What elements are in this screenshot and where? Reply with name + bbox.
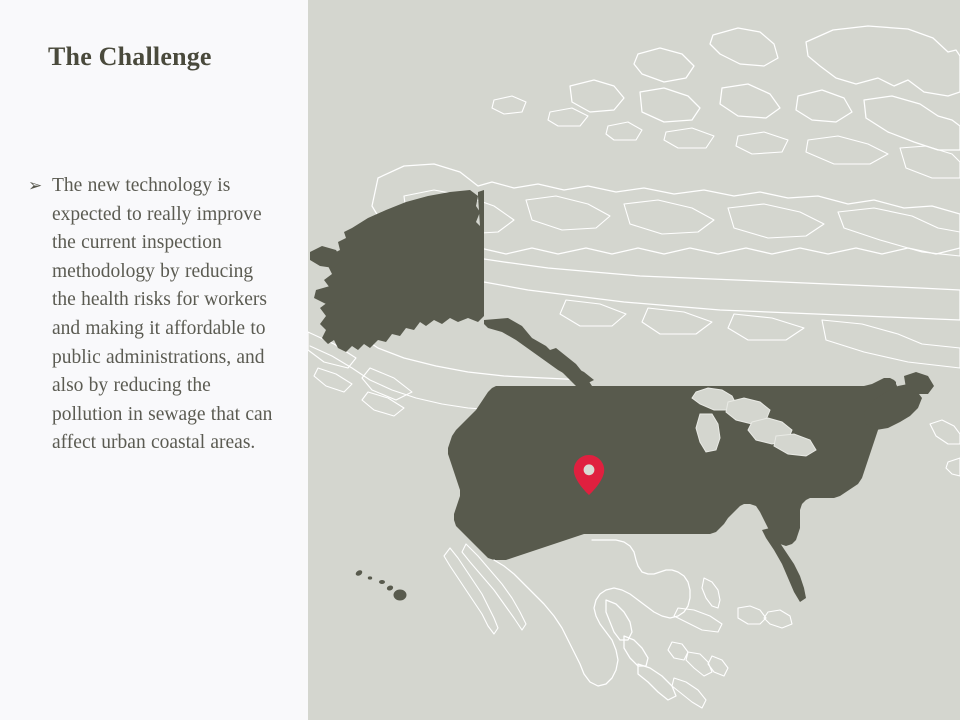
text-panel: The Challenge ➢ The new technology is ex… (0, 0, 308, 720)
arrow-bullet-icon: ➢ (28, 172, 52, 201)
hawaii-region (355, 569, 407, 600)
caribbean-outlines (668, 578, 792, 676)
usa-region (448, 372, 934, 602)
mexico-outlines (444, 540, 706, 708)
map-panel (308, 0, 960, 720)
arctic-outlines (492, 26, 960, 178)
slide-root: The Challenge ➢ The new technology is ex… (0, 0, 960, 720)
bullet-item-text: The new technology is expected to really… (52, 172, 280, 458)
page-title: The Challenge (48, 42, 212, 72)
bullet-list: ➢ The new technology is expected to real… (28, 172, 280, 458)
atlantic-outlines (930, 420, 960, 476)
north-america-map (308, 0, 960, 720)
